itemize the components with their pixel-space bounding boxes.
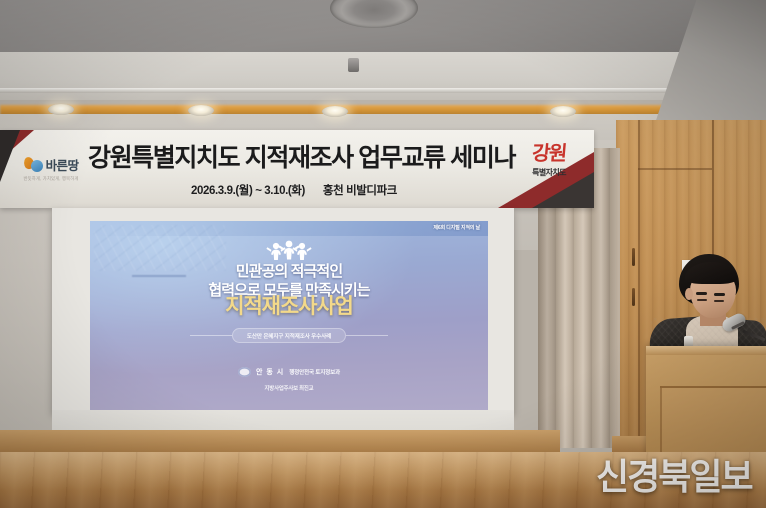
slide-pill-label: 도산만 은혜지구 지적재조사 우수사례 (232, 328, 346, 343)
downlight-icon (188, 105, 214, 116)
press-watermark: 신경북일보 (596, 448, 752, 500)
door-handle (632, 248, 635, 266)
banner-subtitle: 2026.3.9.(월) ~ 3.10.(화)홍천 비발디파크 (88, 182, 500, 198)
logo-right-sub: 특별자치도 (532, 167, 566, 178)
slide-footer-city: 안 동 시 (256, 367, 284, 377)
sprinkler-icon (348, 58, 359, 72)
eyebrow (696, 292, 707, 295)
gangwon-logo: 강원 특별자치도 (512, 144, 586, 178)
barunttang-logo: 바른땅 반듯하게, 가치있게, 행복하게 (8, 147, 94, 189)
slide-footer: 안 동 시 행정안전국 토지정보과 지방사업주사보 최진교 (90, 367, 488, 392)
drop-and-circle-logo-icon (24, 156, 43, 173)
downlight-icon (550, 106, 576, 117)
slide-top-bar (90, 221, 488, 236)
eye (714, 300, 724, 302)
presentation-slide: 제6회 디지털 지적의 날 민관공의 적극적인 협력으로 모두를 만족시키는 지… (90, 221, 488, 412)
pill-rule-right (346, 335, 388, 336)
city-emblem-icon (238, 367, 251, 377)
logo-right-name: 강원 (531, 144, 566, 164)
slide-footer-dept: 행정안전국 토지정보과 (289, 368, 340, 376)
photo-scene: 바른땅 반듯하게, 가치있게, 행복하게 강원특별지치도 지적재조사 업무교류 … (0, 0, 766, 508)
event-banner: 바른땅 반듯하게, 가치있게, 행복하게 강원특별지치도 지적재조사 업무교류 … (0, 130, 594, 208)
eye (697, 299, 707, 301)
banner-title: 강원특별지치도 지적재조사 업무교류 세미나 (88, 146, 500, 171)
slide-pill-row: 도산만 은혜지구 지적재조사 우수사례 (90, 328, 488, 343)
ceiling-lip (0, 88, 712, 93)
eyebrow (714, 293, 725, 296)
slide-highlight-text: 지적재조사사업 (90, 296, 488, 317)
banner-venue: 홍천 비발디파크 (323, 185, 397, 197)
stage-baseboard (0, 430, 560, 454)
logo-left-name: 바른땅 (46, 155, 79, 174)
slide-badge: 제6회 디지털 지적의 날 (433, 224, 480, 231)
pill-rule-left (190, 335, 232, 336)
door-edge (638, 168, 712, 170)
podium-top-edge (646, 346, 766, 355)
ear (685, 288, 693, 300)
banner-date: 2026.3.9.(월) ~ 3.10.(화) (191, 185, 305, 197)
downlight-icon (48, 104, 74, 115)
downlight-icon (322, 106, 348, 117)
door-handle (632, 288, 635, 306)
logo-left-tagline: 반듯하게, 가치있게, 행복하게 (24, 176, 79, 182)
three-people-raising-arms-icon (90, 240, 488, 261)
slide-headline-line1: 민관공의 적극적인 (90, 262, 488, 281)
slide-footer-presenter: 지방사업주사보 최진교 (90, 384, 488, 392)
